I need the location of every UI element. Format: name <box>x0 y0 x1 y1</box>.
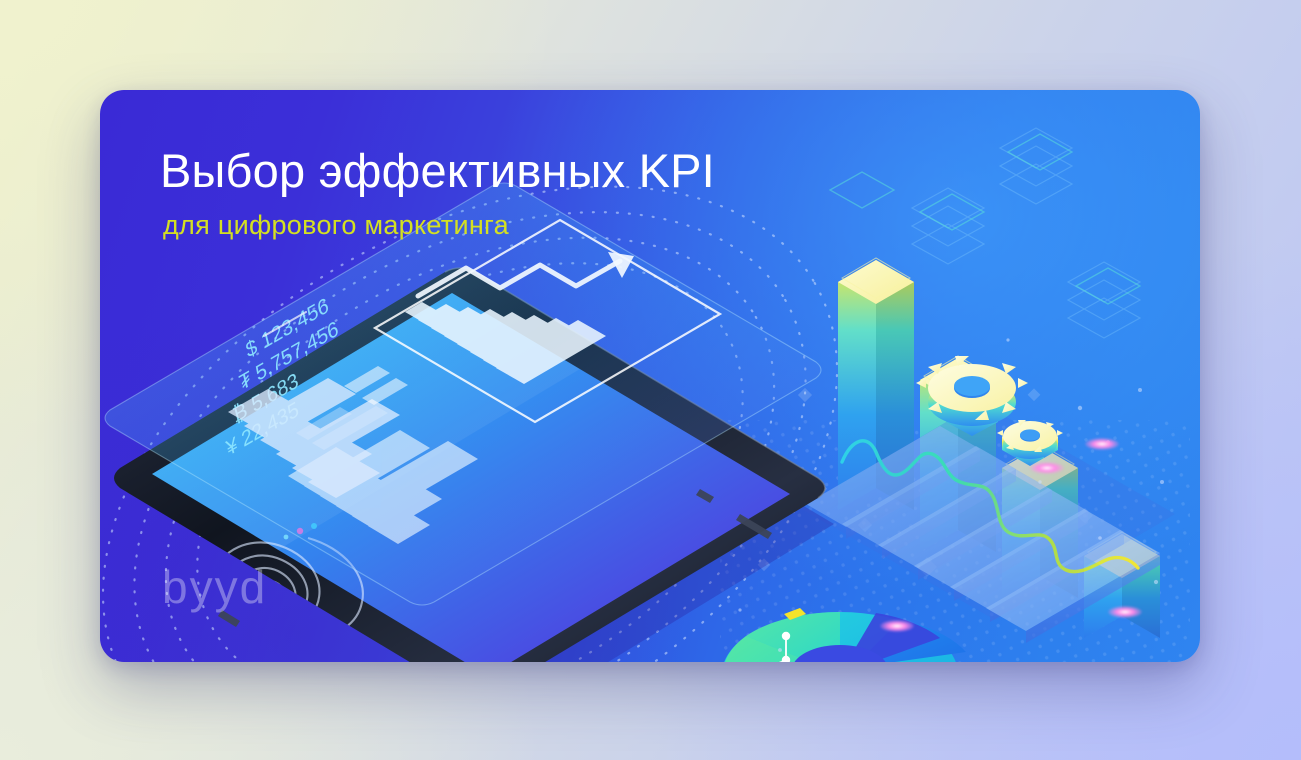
phone-screen-content: $ <box>142 406 478 661</box>
trend-wave-line <box>842 441 1138 572</box>
donut-callout-dots <box>782 632 904 662</box>
gear-large <box>916 356 1028 436</box>
trend-arrow-line <box>418 261 620 296</box>
dollar-symbol: $ <box>142 630 160 661</box>
headline-block: Выбор эффективных KPI для цифрового марк… <box>160 146 780 241</box>
bar-2 <box>920 356 996 552</box>
banner-subtitle: для цифрового маркетинга <box>163 211 780 241</box>
page-root: $ <box>0 0 1301 760</box>
currency-value-3: ₿ 5,683 <box>231 369 301 428</box>
glass-overlay-panel: $ 123,456 ₮ 5,757,456 ₿ 5,683 ¥ 22,435 <box>105 183 821 605</box>
gear-small <box>997 420 1063 466</box>
overlay-bar-chart <box>375 220 720 422</box>
bar-3 <box>1002 444 1078 598</box>
isometric-gear-pair <box>916 356 1063 466</box>
phone-side-buttons <box>218 489 772 627</box>
wireframe-accent-diamonds <box>830 134 1140 304</box>
background-dot-field <box>720 420 1190 662</box>
currency-value-1: $ 123,456 <box>244 294 331 363</box>
overlay-bars <box>405 302 606 384</box>
glow-accent-3 <box>880 620 914 632</box>
brand-logo: byyd <box>162 564 267 610</box>
glass-plate <box>105 183 821 605</box>
isometric-bar-tower-chart <box>838 258 1160 638</box>
glow-accent-1 <box>1085 438 1119 450</box>
chart-frame <box>375 220 720 422</box>
wireframe-towers <box>912 128 1140 338</box>
isometric-stepped-area-chart <box>800 402 1175 643</box>
background-square-specks <box>758 388 1093 577</box>
bar-4 <box>1084 532 1160 638</box>
light-specks <box>738 338 1164 651</box>
currency-value-2: ₮ 5,757,456 <box>237 317 340 396</box>
trend-arrow-head <box>608 252 634 278</box>
donut-callouts <box>736 634 962 662</box>
currency-readouts: $ 123,456 ₮ 5,757,456 ₿ 5,683 ¥ 22,435 <box>204 292 353 462</box>
screen-data-bars <box>288 430 478 544</box>
isometric-donut-chart <box>722 608 1004 662</box>
banner-card: $ <box>100 90 1200 662</box>
glow-accent-4 <box>1108 606 1142 618</box>
overlay-lower-bars <box>228 378 400 498</box>
bar-1 <box>838 258 914 510</box>
banner-title: Выбор эффективных KPI <box>160 146 780 196</box>
currency-value-4: ¥ 22,435 <box>223 397 301 461</box>
donut-callout-markers <box>722 608 1004 662</box>
glow-accent-2 <box>1030 462 1064 474</box>
